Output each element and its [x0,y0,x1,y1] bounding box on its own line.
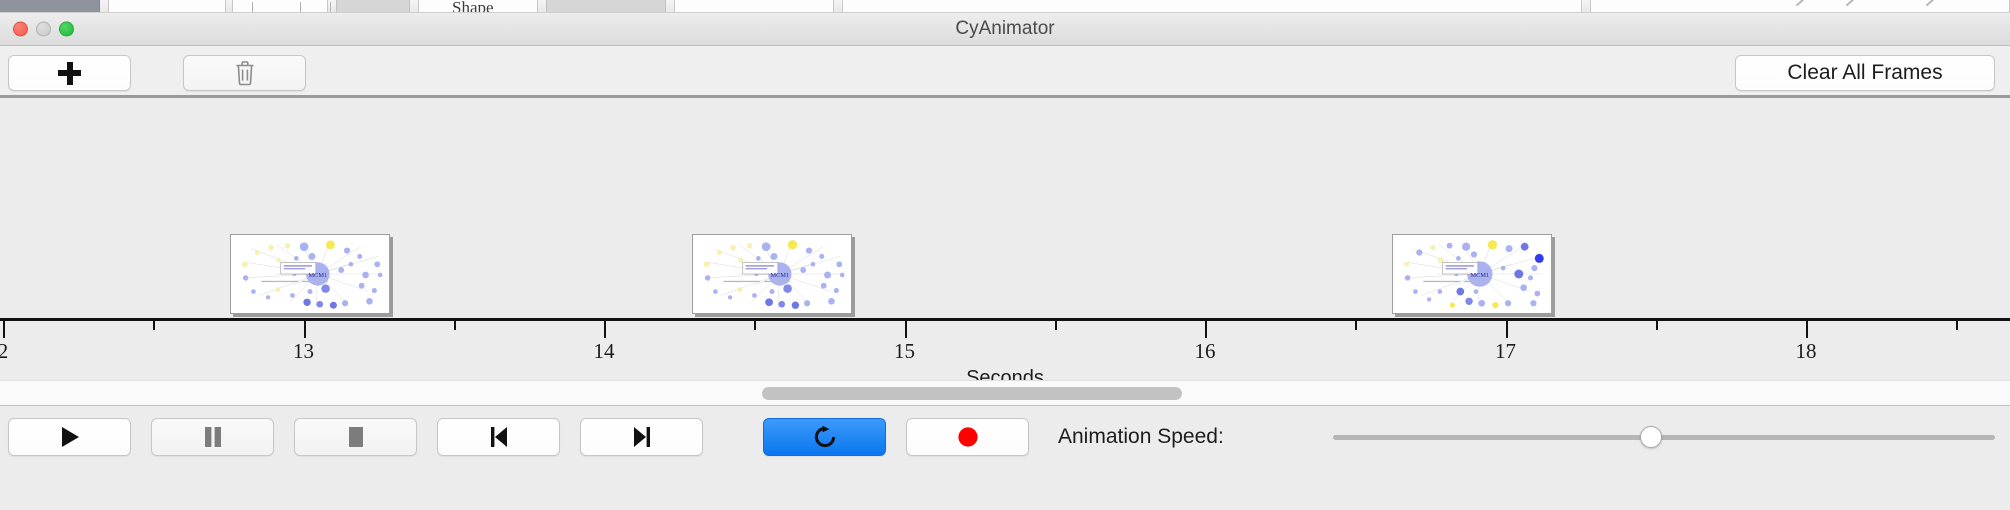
timeline-frame-thumbnail[interactable]: MCM1 [230,234,390,314]
add-frame-button[interactable] [8,55,131,91]
stop-icon [346,425,366,449]
play-button[interactable] [8,418,131,456]
plus-icon [58,62,81,85]
clear-all-frames-label: Clear All Frames [1787,61,1942,85]
delete-frame-button[interactable] [183,55,306,91]
stop-button[interactable] [294,418,417,456]
timeline-scrollbar-thumb[interactable] [762,387,1182,400]
clear-all-frames-button[interactable]: Clear All Frames [1735,55,1995,91]
pause-icon [203,425,223,449]
svg-text:MCM1: MCM1 [1470,272,1489,279]
play-icon [59,425,81,449]
skip-back-button[interactable] [437,418,560,456]
skip-forward-button[interactable] [580,418,703,456]
ruler-tick-major [1506,321,1508,338]
timeline-ruler[interactable]: Seconds 2131415161718 [0,318,2010,380]
record-icon [956,425,980,449]
network-thumbnail-graphic: MCM1 [693,235,851,313]
timeline-frames-area[interactable]: MCM1 [0,98,2010,318]
toolbar: Clear All Frames [0,46,2010,98]
svg-text:MCM1: MCM1 [770,272,789,279]
animation-speed-track [1333,435,1995,440]
ruler-tick-label: 17 [1495,339,1516,364]
ruler-tick-label: 14 [594,339,615,364]
ruler-tick-minor [153,321,155,330]
loop-icon [812,424,838,450]
timeline-frame-thumbnail[interactable]: MCM1 [1392,234,1552,314]
ruler-tick-label: 16 [1195,339,1216,364]
ruler-tick-label: 13 [293,339,314,364]
ruler-tick-minor [1956,321,1958,330]
ruler-tick-major [304,321,306,338]
transport-control-bar: Animation Speed: [0,406,2010,468]
ruler-tick-major [604,321,606,338]
timeline-scrollbar[interactable] [0,380,2010,406]
ruler-tick-minor [754,321,756,330]
ruler-tick-label: 15 [894,339,915,364]
ruler-tick-minor [1055,321,1057,330]
network-thumbnail-graphic: MCM1 [231,235,389,313]
ruler-tick-major [1806,321,1808,338]
network-thumbnail-graphic: MCM1 [1393,235,1551,313]
skip-forward-icon [631,425,653,449]
ruler-tick-major [905,321,907,338]
cyanimator-window: CyAnimator Clear All Frames [0,12,2010,510]
animation-speed-thumb[interactable] [1640,426,1662,448]
title-bar: CyAnimator [0,13,2010,46]
pause-button[interactable] [151,418,274,456]
record-button[interactable] [906,418,1029,456]
ruler-tick-minor [454,321,456,330]
animation-speed-slider[interactable] [1333,426,1995,448]
trash-icon [234,60,256,86]
ruler-tick-label: 2 [0,339,8,364]
animation-speed-label: Animation Speed: [1058,425,1224,449]
ruler-tick-major [1205,321,1207,338]
ruler-tick-major [3,321,5,338]
timeline-frame-thumbnail[interactable]: MCM1 [692,234,852,314]
svg-text:MCM1: MCM1 [308,272,327,279]
window-title: CyAnimator [0,18,2010,40]
loop-button[interactable] [763,418,886,456]
ruler-tick-label: 18 [1796,339,1817,364]
skip-back-icon [488,425,510,449]
ruler-tick-minor [1355,321,1357,330]
ruler-tick-minor [1656,321,1658,330]
